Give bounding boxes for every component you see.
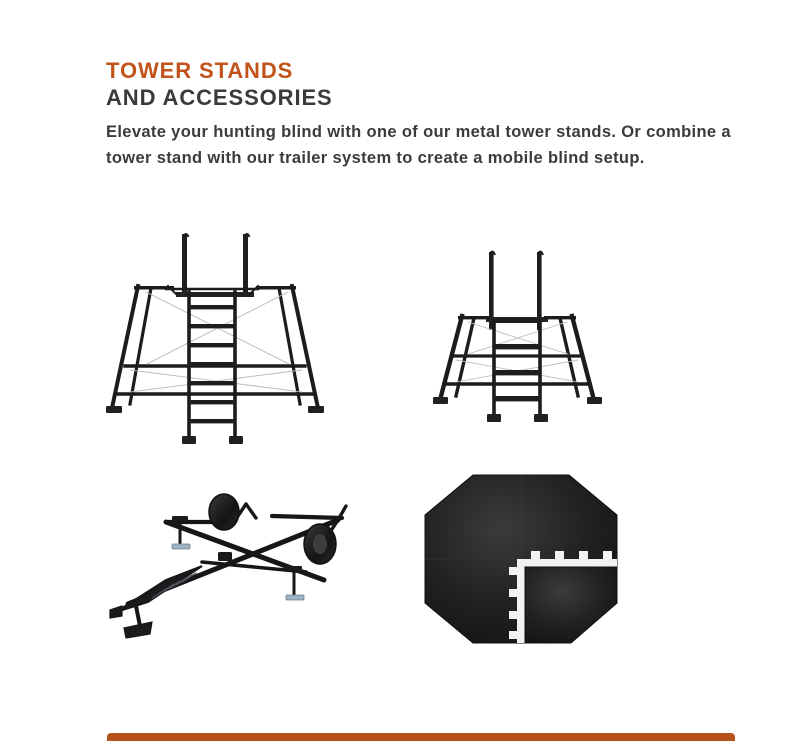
intro-paragraph: Elevate your hunting blind with one of o… <box>106 120 774 171</box>
page-root: TOWER STANDS AND ACCESSORIES Elevate you… <box>0 0 806 739</box>
blind-trailer-image <box>106 476 361 646</box>
short-tower-stand-image <box>406 234 636 449</box>
bottom-accent-bar <box>107 733 735 741</box>
title-secondary: AND ACCESSORIES <box>106 84 786 111</box>
page-title: TOWER STANDS AND ACCESSORIES <box>106 57 786 111</box>
title-primary: TOWER STANDS <box>106 57 786 84</box>
tall-tower-stand-image <box>106 226 346 456</box>
octagon-floor-mat-image <box>421 471 621 646</box>
product-image-grid <box>106 226 666 666</box>
